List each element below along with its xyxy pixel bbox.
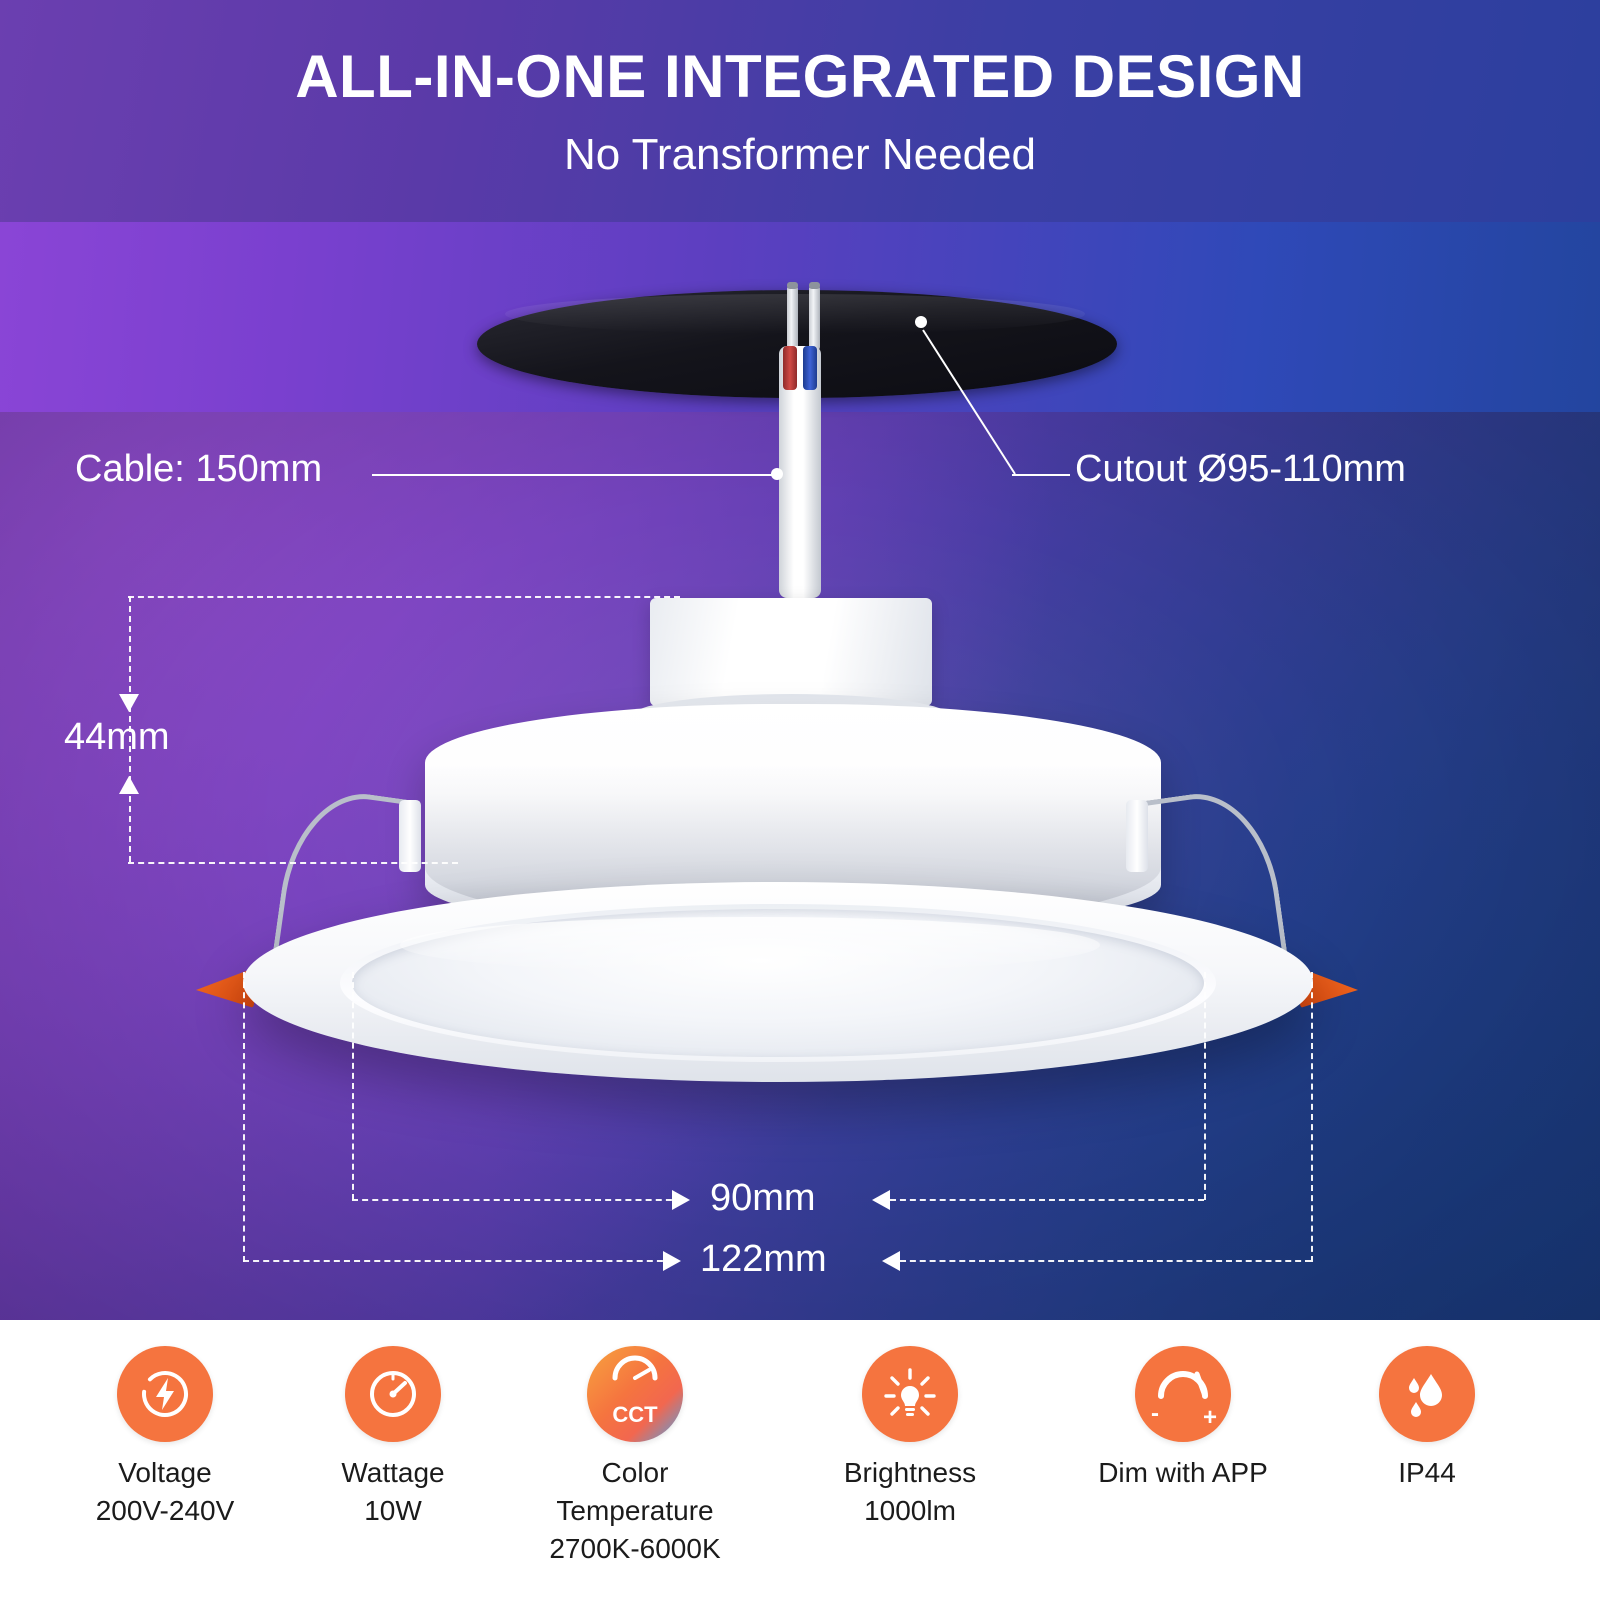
feature-voltage: Voltage 200V-240V — [50, 1346, 280, 1530]
wire-right — [809, 284, 820, 352]
dim-122mm-arrow-right — [663, 1251, 681, 1271]
dim-90mm-arrow-right — [672, 1190, 690, 1210]
feature-color-temperature: CCT Color Temperature 2700K-6000K — [520, 1346, 750, 1568]
feature-wattage: Wattage 10W — [278, 1346, 508, 1530]
feature-dim-text: Dim with APP — [1068, 1454, 1298, 1492]
dimmer-arc-icon: - + — [1135, 1346, 1231, 1442]
wire-right-tip — [809, 282, 820, 289]
wire-left-tip — [787, 282, 798, 289]
dim-122mm-guide-right — [900, 1260, 1311, 1262]
dim-44mm-arrow-down — [119, 694, 139, 712]
background-header-band — [0, 0, 1600, 222]
dim-90mm-left-rail — [352, 972, 354, 1200]
wattage-gauge-icon — [345, 1346, 441, 1442]
dim-90mm-guide-left — [352, 1199, 682, 1201]
feature-voltage-text: Voltage 200V-240V — [50, 1454, 280, 1530]
spring-clip-post-right — [1126, 800, 1148, 872]
page-subtitle: No Transformer Needed — [0, 130, 1600, 180]
feature-wattage-line1: Wattage — [341, 1457, 444, 1488]
cable-live-red — [783, 346, 797, 390]
feature-cct-line2: 2700K-6000K — [520, 1530, 750, 1568]
callout-cutout-anchor-dot — [915, 316, 927, 328]
dim-122mm-arrow-left — [882, 1251, 900, 1271]
feature-wattage-text: Wattage 10W — [278, 1454, 508, 1530]
dim-44mm-bottom-guide — [128, 862, 458, 864]
feature-ip-rating: IP44 — [1312, 1346, 1542, 1492]
feature-brightness-text: Brightness 1000lm — [795, 1454, 1025, 1530]
dim-122mm-right-rail — [1311, 972, 1313, 1262]
brightness-bulb-icon — [862, 1346, 958, 1442]
integrated-driver-box — [650, 598, 932, 706]
dim-90mm-label: 90mm — [710, 1177, 816, 1220]
cct-badge-text: CCT — [587, 1402, 683, 1428]
feature-dim-line1: Dim with APP — [1098, 1457, 1268, 1488]
feature-cct-text: Color Temperature 2700K-6000K — [520, 1454, 750, 1568]
cable-neutral-blue — [803, 346, 817, 390]
dim-44mm-arrow-up — [119, 776, 139, 794]
product-diagram: Cable: 150mm Cutout Ø95-110mm 44mm 90mm … — [0, 412, 1600, 1322]
callout-cable-label: Cable: 150mm — [75, 448, 322, 491]
lens-gloss-highlight — [400, 917, 1100, 973]
feature-dim-with-app: - + Dim with APP — [1068, 1346, 1298, 1492]
feature-voltage-line1: Voltage — [118, 1457, 211, 1488]
dimmer-minus-label: - — [1151, 1404, 1159, 1424]
dim-44mm-top-guide — [128, 596, 680, 598]
feature-brightness-line2: 1000lm — [795, 1492, 1025, 1530]
callout-cable-leader — [372, 474, 778, 476]
waterproof-drop-icon — [1379, 1346, 1475, 1442]
feature-ip-text: IP44 — [1312, 1454, 1542, 1492]
dim-90mm-guide-right — [890, 1199, 1204, 1201]
feature-wattage-line2: 10W — [278, 1492, 508, 1530]
feature-voltage-line2: 200V-240V — [50, 1492, 280, 1530]
dimmer-plus-label: + — [1203, 1408, 1217, 1428]
dim-90mm-arrow-left — [872, 1190, 890, 1210]
feature-ip-line1: IP44 — [1398, 1457, 1456, 1488]
callout-cutout-label: Cutout Ø95-110mm — [1075, 448, 1406, 491]
wire-left — [787, 284, 798, 352]
dim-122mm-left-rail — [243, 972, 245, 1262]
dim-44mm-label: 44mm — [64, 716, 170, 759]
feature-brightness-line1: Brightness — [844, 1457, 976, 1488]
dim-122mm-label: 122mm — [700, 1238, 827, 1281]
feature-brightness: Brightness 1000lm — [795, 1346, 1025, 1530]
feature-strip: Voltage 200V-240V Wattage 10W CCT — [0, 1338, 1600, 1600]
page-title: ALL-IN-ONE INTEGRATED DESIGN — [0, 42, 1600, 111]
cct-color-temp-icon: CCT — [587, 1346, 683, 1442]
callout-cable-anchor-dot — [771, 468, 783, 480]
feature-cct-line1: Color Temperature — [556, 1457, 713, 1526]
dim-122mm-guide-left — [243, 1260, 673, 1262]
callout-cutout-leader-diagonal — [905, 320, 1025, 480]
voltage-bolt-icon — [117, 1346, 213, 1442]
dim-90mm-right-rail — [1204, 972, 1206, 1200]
